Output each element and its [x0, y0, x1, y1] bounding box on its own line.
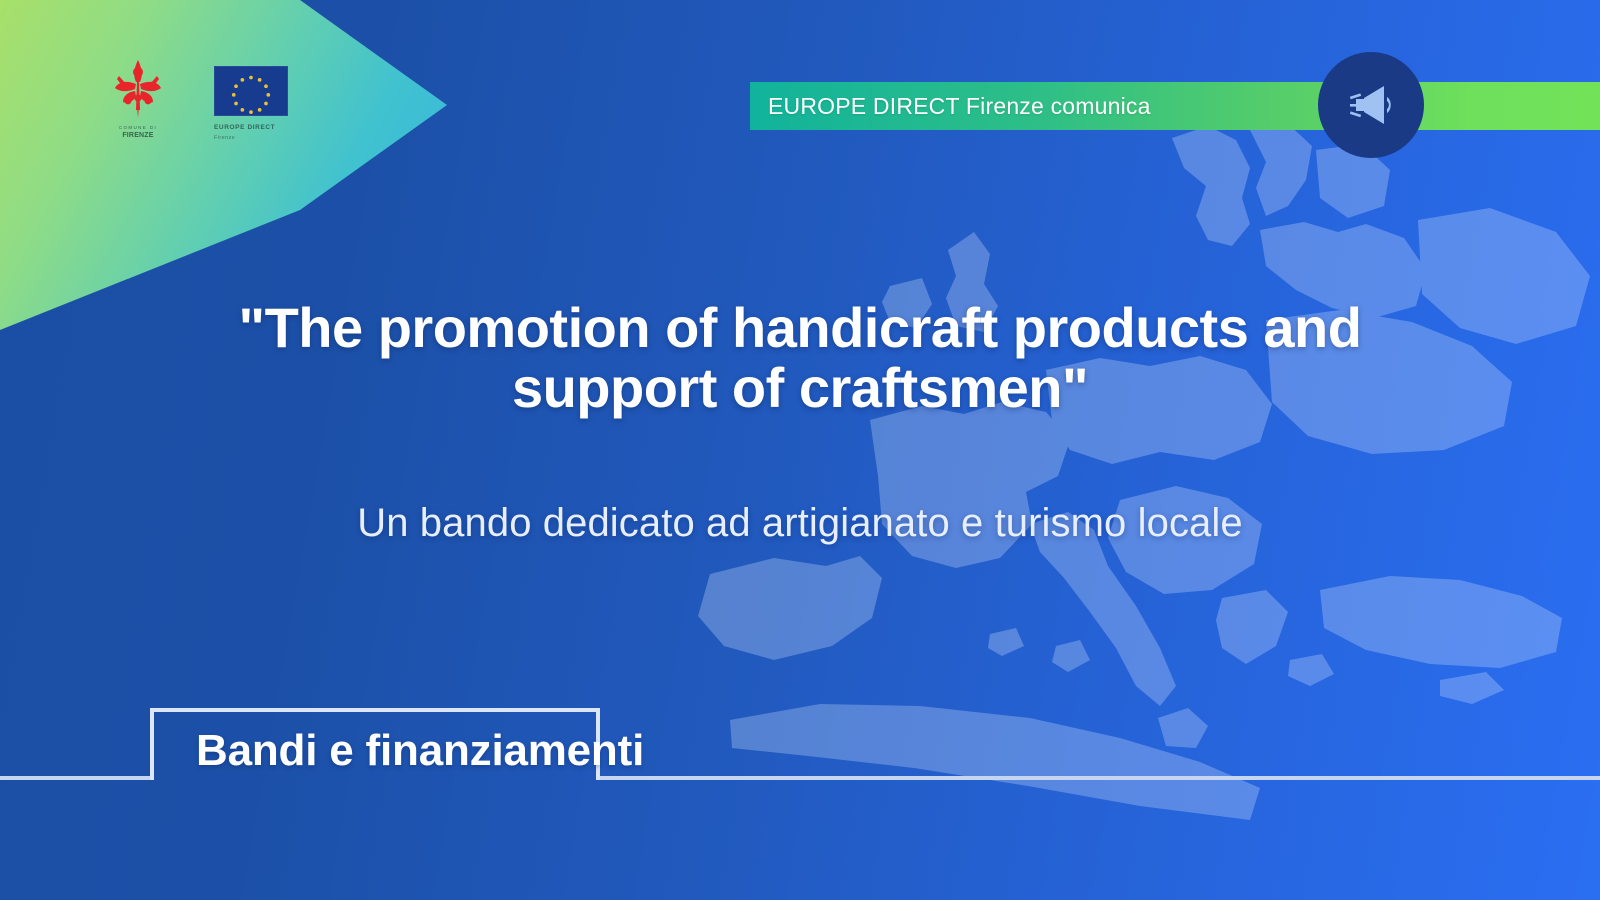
page-subtitle: Un bando dedicato ad artigianato e turis… — [180, 498, 1420, 549]
logo-lockup: COMUNE DI FIRENZE — [88, 58, 310, 142]
europe-direct-city: Firenze — [214, 135, 235, 142]
giglio-fiorentino-icon — [106, 58, 170, 120]
europe-direct-label: EUROPE DIRECT — [214, 124, 275, 132]
category-label: Bandi e finanziamenti — [196, 722, 896, 780]
corner-chevron-accent — [0, 0, 450, 330]
comune-kicker: COMUNE DI — [119, 124, 157, 132]
europe-direct-logo: EUROPE DIRECT Firenze — [214, 66, 310, 142]
megaphone-icon — [1318, 52, 1424, 158]
social-card: COMUNE DI FIRENZE — [0, 0, 1600, 900]
comune-wordmark: COMUNE DI FIRENZE — [90, 122, 186, 142]
comune-di-firenze-logo: COMUNE DI FIRENZE — [88, 58, 188, 142]
comune-name: FIRENZE — [122, 132, 153, 140]
footer-rule-left — [0, 776, 152, 780]
eu-flag-icon — [214, 66, 288, 116]
comunica-banner-label: EUROPE DIRECT Firenze comunica — [768, 82, 1151, 130]
page-title: "The promotion of handicraft products an… — [150, 298, 1450, 419]
